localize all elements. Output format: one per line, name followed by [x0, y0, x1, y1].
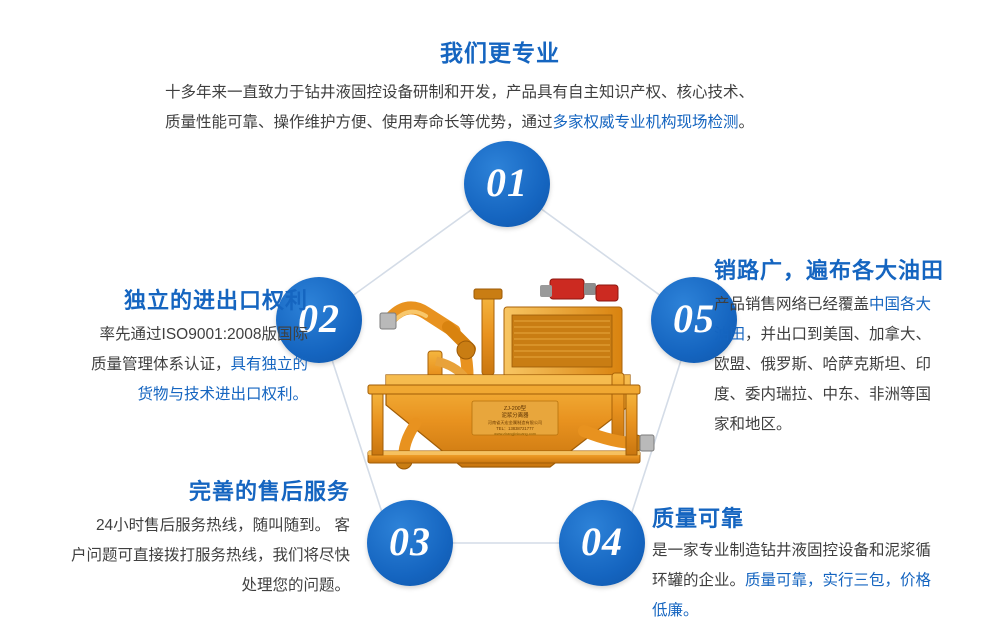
feature-left-top-body: 率先通过ISO9001:2008版国际 质量管理体系认证，具有独立的 货物与技术… — [18, 320, 308, 410]
feature-left-top-line2a: 质量管理体系认证， — [91, 356, 231, 373]
feature-right-top-line2b: ，并出口到美国、加拿大、 — [745, 326, 931, 343]
feature-top-line2a: 质量性能可靠、操作维护方便、使用寿命长等优势，通过 — [165, 114, 553, 131]
feature-top-heading: 我们更专业 — [140, 40, 860, 68]
feature-top-line2c: 。 — [739, 114, 755, 131]
feature-block-left-top: 独立的进出口权利 率先通过ISO9001:2008版国际 质量管理体系认证，具有… — [18, 288, 308, 410]
machine-label-model: ZJ-200型 — [504, 404, 527, 412]
machine-illustration: ZJ-200型 泥浆分离器 河南省天宏金属制造有限公司 TEL：13838721… — [344, 255, 664, 485]
feature-right-bottom-line1: 是一家专业制造钻井液固控设备和泥浆循 — [652, 536, 992, 566]
feature-block-top: 我们更专业 十多年来一直致力于钻井液固控设备研制和开发，产品具有自主知识产权、核… — [140, 40, 860, 138]
feature-right-top-line2: 油田，并出口到美国、加拿大、 — [714, 320, 990, 350]
feature-right-top-line2-highlight: 油田 — [714, 326, 745, 343]
feature-right-top-line1-highlight: 中国各大 — [869, 296, 931, 313]
feature-right-top-line3: 欧盟、俄罗斯、哈萨克斯坦、印 — [714, 350, 990, 380]
feature-block-right-bottom: 质量可靠 是一家专业制造钻井液固控设备和泥浆循 环罐的企业。质量可靠，实行三包，… — [652, 506, 992, 626]
feature-top-line2: 质量性能可靠、操作维护方便、使用寿命长等优势，通过多家权威专业机构现场检测。 — [165, 108, 860, 138]
feature-top-body: 十多年来一直致力于钻井液固控设备研制和开发，产品具有自主知识产权、核心技术、 质… — [140, 78, 860, 138]
badge-03-number: 03 — [389, 522, 431, 562]
feature-right-bottom-line2-highlight: 质量可靠，实行三包，价格 — [745, 572, 931, 589]
feature-left-bottom-body: 24小时售后服务热线，随叫随到。 客 户问题可直接拨打服务热线，我们将尽快 处理… — [20, 511, 350, 601]
feature-right-bottom-line2a: 环罐的企业。 — [652, 572, 745, 589]
badge-03[interactable]: 03 — [367, 500, 453, 586]
feature-left-top-line3: 货物与技术进出口权利。 — [18, 380, 308, 410]
badge-04-number: 04 — [581, 522, 623, 562]
machine-label-company: 河南省天宏金属制造有限公司 — [488, 419, 542, 426]
feature-block-right-top: 销路广，遍布各大油田 产品销售网络已经覆盖中国各大 油田，并出口到美国、加拿大、… — [714, 258, 990, 440]
badge-01[interactable]: 01 — [464, 141, 550, 227]
machine-label-name: 泥浆分离器 — [502, 411, 530, 419]
feature-left-top-line2: 质量管理体系认证，具有独立的 — [18, 350, 308, 380]
feature-left-top-heading: 独立的进出口权利 — [18, 288, 308, 314]
feature-left-top-line2-highlight: 具有独立的 — [230, 356, 308, 373]
feature-block-left-bottom: 完善的售后服务 24小时售后服务热线，随叫随到。 客 户问题可直接拨打服务热线，… — [20, 479, 350, 601]
badge-05-number: 05 — [673, 299, 715, 339]
machine-label-site: www.zhangjinkuang.com — [494, 432, 536, 436]
feature-right-bottom-line2: 环罐的企业。质量可靠，实行三包，价格 — [652, 566, 992, 596]
feature-right-top-body: 产品销售网络已经覆盖中国各大 油田，并出口到美国、加拿大、 欧盟、俄罗斯、哈萨克… — [714, 290, 990, 440]
badge-04[interactable]: 04 — [559, 500, 645, 586]
feature-right-top-line1a: 产品销售网络已经覆盖 — [714, 296, 869, 313]
feature-top-line1: 十多年来一直致力于钻井液固控设备研制和开发，产品具有自主知识产权、核心技术、 — [165, 78, 860, 108]
feature-right-top-line1: 产品销售网络已经覆盖中国各大 — [714, 290, 990, 320]
infographic-canvas: ZJ-200型 泥浆分离器 河南省天宏金属制造有限公司 TEL：13838721… — [0, 0, 1000, 642]
feature-top-line2-highlight: 多家权威专业机构现场检测 — [553, 114, 739, 131]
badge-01-number: 01 — [486, 163, 528, 203]
feature-right-bottom-heading: 质量可靠 — [652, 506, 992, 532]
feature-left-top-line1: 率先通过ISO9001:2008版国际 — [18, 320, 308, 350]
feature-right-top-line5: 家和地区。 — [714, 410, 990, 440]
feature-right-top-heading: 销路广，遍布各大油田 — [714, 258, 990, 284]
machine-label-tel: TEL：13838721777 — [496, 426, 534, 431]
feature-left-bottom-line3: 处理您的问题。 — [20, 571, 350, 601]
feature-left-bottom-line2: 户问题可直接拨打服务热线，我们将尽快 — [20, 541, 350, 571]
feature-right-bottom-line3: 低廉。 — [652, 596, 992, 626]
feature-left-bottom-line1: 24小时售后服务热线，随叫随到。 客 — [20, 511, 350, 541]
feature-left-bottom-heading: 完善的售后服务 — [20, 479, 350, 505]
feature-right-top-line4: 度、委内瑞拉、中东、非洲等国 — [714, 380, 990, 410]
feature-right-bottom-body: 是一家专业制造钻井液固控设备和泥浆循 环罐的企业。质量可靠，实行三包，价格 低廉… — [652, 536, 992, 626]
